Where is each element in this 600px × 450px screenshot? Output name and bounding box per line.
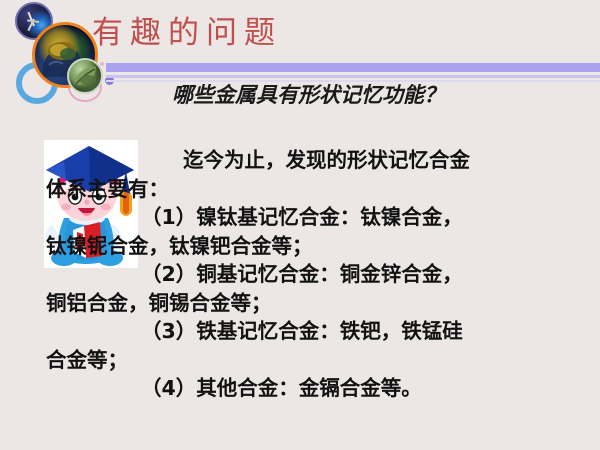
- item-1-line-1: （1）镍钛基记忆合金：钛镍合金，: [141, 205, 463, 229]
- body-paragraph-item-4: （4）其他合金：金镉合金等。: [46, 374, 566, 403]
- presentation-slide: 有趣的问题 哪些金属具有形状记忆功能？: [0, 0, 600, 450]
- page-title: 有趣的问题: [92, 13, 282, 53]
- intro-line-1: 迄今为止，发现的形状记忆合金: [183, 148, 470, 172]
- title-divider-bar: [106, 63, 600, 72]
- item-1-line-2: 钛镍铌合金，钛镍钯合金等；: [46, 232, 566, 261]
- slide-subtitle: 哪些金属具有形状记忆功能？: [172, 80, 445, 110]
- item-3-line-1: （3）铁基记忆合金：铁钯，铁锰硅: [141, 319, 463, 343]
- item-2-line-2: 铜铝合金，铜锡合金等；: [46, 289, 566, 318]
- leaf-icon: [69, 60, 101, 92]
- leaf-photo-circle-icon: [67, 58, 103, 94]
- body-paragraph-item-2: （2）铜基记忆合金：铜金锌合金， 铜铝合金，铜锡合金等；: [46, 260, 566, 317]
- body-paragraph-item-1: （1）镍钛基记忆合金：钛镍合金， 钛镍铌合金，钛镍钯合金等；: [46, 203, 566, 260]
- pink-dot-icon: [100, 62, 104, 66]
- item-4-line-1: （4）其他合金：金镉合金等。: [141, 376, 422, 400]
- body-paragraph-item-3: （3）铁基记忆合金：铁钯，铁锰硅 合金等；: [46, 317, 566, 374]
- slide-body-text: 迄今为止，发现的形状记忆合金 体系主要有： （1）镍钛基记忆合金：钛镍合金， 钛…: [46, 146, 566, 403]
- body-paragraph-intro: 迄今为止，发现的形状记忆合金 体系主要有：: [46, 146, 566, 203]
- item-3-line-2: 合金等；: [46, 346, 566, 375]
- title-divider-bar-secondary: [106, 75, 600, 78]
- intro-line-2: 体系主要有：: [46, 175, 566, 204]
- item-2-line-1: （2）铜基记忆合金：铜金锌合金，: [141, 262, 463, 286]
